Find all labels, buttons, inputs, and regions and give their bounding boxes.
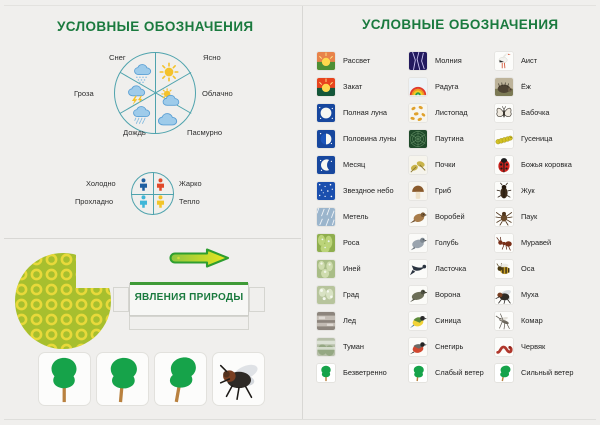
- fly-photo-card[interactable]: [212, 352, 265, 406]
- box-flap-bottom: [129, 316, 249, 330]
- sunset-icon: [316, 77, 336, 97]
- legend-row[interactable]: Червяк: [494, 334, 586, 360]
- buds-icon: [408, 155, 428, 175]
- legend-row[interactable]: Рассвет: [316, 48, 408, 74]
- legend-row-label: Жук: [521, 187, 535, 194]
- legend-row-label: Метель: [343, 213, 368, 220]
- legend-row-label: Месяц: [343, 161, 365, 168]
- page-title-right: УСЛОВНЫЕ ОБОЗНАЧЕНИЯ: [362, 17, 559, 32]
- legend-row[interactable]: Звездное небо: [316, 178, 408, 204]
- legend-row-label: Молния: [435, 57, 462, 64]
- legend-row[interactable]: Ёж: [494, 74, 586, 100]
- legend-row[interactable]: Радуга: [408, 74, 500, 100]
- person-icon: [139, 195, 148, 208]
- sparrow-icon: [408, 207, 428, 227]
- legend-row-label: Гусеница: [521, 135, 552, 142]
- snow-cloud-icon: [130, 63, 156, 83]
- legend-row[interactable]: Ласточка: [408, 256, 500, 282]
- legend-row[interactable]: Оса: [494, 256, 586, 282]
- ant-icon: [494, 233, 514, 253]
- stork-icon: [494, 51, 514, 71]
- legend-row[interactable]: Комар: [494, 308, 586, 334]
- legend-row[interactable]: Безветренно: [316, 360, 408, 386]
- legend-row[interactable]: Муха: [494, 282, 586, 308]
- legend-row-label: Голубь: [435, 239, 459, 246]
- legend-row[interactable]: Ворона: [408, 282, 500, 308]
- legend-row[interactable]: Снегирь: [408, 334, 500, 360]
- legend-row-label: Снегирь: [435, 343, 463, 350]
- legend-row-label: Почки: [435, 161, 455, 168]
- box-flap-right: [249, 287, 265, 312]
- legend-row[interactable]: Почки: [408, 152, 500, 178]
- temperature-grid: Холодно Жарко Прохладно Тепло: [131, 172, 174, 215]
- sunrise-icon: [316, 51, 336, 71]
- legend-row-label: Туман: [343, 343, 364, 350]
- tree-strong-wind-card[interactable]: [154, 352, 207, 406]
- wheel-label-pasmurno: Пасмурно: [187, 128, 222, 137]
- ladybug-icon: [494, 155, 514, 175]
- titmouse-icon: [408, 311, 428, 331]
- legend-row[interactable]: Закат: [316, 74, 408, 100]
- legend-row-label: Слабый ветер: [435, 369, 484, 376]
- pigeon-icon: [408, 233, 428, 253]
- legend-row[interactable]: Лед: [316, 308, 408, 334]
- sun-behind-cloud-icon: [159, 88, 185, 108]
- legend-row[interactable]: Гусеница: [494, 126, 586, 152]
- legend-row[interactable]: Сильный ветер: [494, 360, 586, 386]
- legend-row-label: Радуга: [435, 83, 458, 90]
- beetle-icon: [494, 181, 514, 201]
- legend-row-label: Рассвет: [343, 57, 370, 64]
- caterpillar-icon: [494, 129, 514, 149]
- legend-row[interactable]: Молния: [408, 48, 500, 74]
- wasp-icon: [494, 259, 514, 279]
- animals-and-insects-column: АистЁжБабочкаГусеницаБожья коровкаЖукПау…: [494, 48, 586, 386]
- legend-row-label: Град: [343, 291, 359, 298]
- temp-label-zharko: Жарко: [179, 179, 202, 188]
- box-title: ЯВЛЕНИЯ ПРИРОДЫ: [129, 292, 249, 303]
- legend-row[interactable]: Паутина: [408, 126, 500, 152]
- legend-row-label: Паутина: [435, 135, 464, 142]
- half-moon-icon: [316, 129, 336, 149]
- legend-row-label: Звездное небо: [343, 187, 394, 194]
- temp-label-teplo: Тепло: [179, 197, 200, 206]
- wheel-label-dozhd: Дождь: [123, 128, 146, 137]
- box-flap-left: [113, 287, 129, 312]
- ice-icon: [316, 311, 336, 331]
- cloud-icon: [155, 108, 181, 128]
- legend-row-label: Закат: [343, 83, 362, 90]
- legend-row[interactable]: Метель: [316, 204, 408, 230]
- tree-wind-card-row: [38, 352, 265, 406]
- legend-row[interactable]: Аист: [494, 48, 586, 74]
- legend-row[interactable]: Бабочка: [494, 100, 586, 126]
- temperature-grid-hline: [131, 194, 174, 195]
- legend-row-label: Муравей: [521, 239, 551, 246]
- legend-row[interactable]: Воробей: [408, 204, 500, 230]
- legend-row-label: Листопад: [435, 109, 468, 116]
- tree-upright-icon: [316, 363, 336, 383]
- legend-row[interactable]: Туман: [316, 334, 408, 360]
- legend-row-label: Половина луны: [343, 135, 396, 142]
- starry-sky-icon: [316, 181, 336, 201]
- legend-row[interactable]: Листопад: [408, 100, 500, 126]
- legend-row-label: Муха: [521, 291, 539, 298]
- legend-row-label: Ласточка: [435, 265, 466, 272]
- tree-no-wind-card[interactable]: [38, 352, 91, 406]
- legend-row-label: Иней: [343, 265, 361, 272]
- fog-icon: [316, 337, 336, 357]
- legend-row[interactable]: Половина луны: [316, 126, 408, 152]
- panel-horizontal-divider: [4, 238, 301, 239]
- wheel-label-groza: Гроза: [74, 89, 94, 98]
- panel-vertical-divider: [302, 6, 303, 419]
- temp-label-holodno: Холодно: [86, 179, 116, 188]
- worm-icon: [494, 337, 514, 357]
- frame-bottom-edge: [4, 419, 596, 420]
- legend-row-label: Паук: [521, 213, 537, 220]
- legend-row-label: Божья коровка: [521, 161, 572, 168]
- full-moon-icon: [316, 103, 336, 123]
- legend-row-label: Гриб: [435, 187, 451, 194]
- crow-icon: [408, 285, 428, 305]
- person-icon: [156, 178, 165, 191]
- sun-icon: [156, 62, 182, 82]
- fly-icon: [213, 353, 264, 405]
- frost-icon: [316, 259, 336, 279]
- frame-top-edge: [4, 5, 596, 6]
- crescent-moon-icon: [316, 155, 336, 175]
- legend-row-label: Лед: [343, 317, 356, 324]
- arrow-right-icon[interactable]: [166, 248, 230, 268]
- swallow-icon: [408, 259, 428, 279]
- legend-row-label: Роса: [343, 239, 360, 246]
- nature-phenomena-column: МолнияРадугаЛистопадПаутинаПочкиГрибВоро…: [408, 48, 500, 386]
- legend-row-label: Червяк: [521, 343, 545, 350]
- spider-icon: [494, 207, 514, 227]
- hail-icon: [316, 285, 336, 305]
- tree-bent-icon: [494, 363, 514, 383]
- person-icon: [139, 178, 148, 191]
- lightning-icon: [408, 51, 428, 71]
- person-icon: [156, 195, 165, 208]
- spiderweb-icon: [408, 129, 428, 149]
- legend-row[interactable]: Паук: [494, 204, 586, 230]
- rain-cloud-icon: [129, 105, 155, 125]
- legend-row[interactable]: Муравей: [494, 230, 586, 256]
- legend-row-label: Аист: [521, 57, 537, 64]
- page-title-left: УСЛОВНЫЕ ОБОЗНАЧЕНИЯ: [57, 19, 254, 34]
- dew-icon: [316, 233, 336, 253]
- butterfly-icon: [494, 103, 514, 123]
- box-top-bar: [130, 282, 248, 285]
- legend-row-label: Сильный ветер: [521, 369, 573, 376]
- legend-row-label: Комар: [521, 317, 543, 324]
- mushroom-icon: [408, 181, 428, 201]
- wheel-label-yasno: Ясно: [203, 53, 221, 62]
- rainbow-icon: [408, 77, 428, 97]
- legend-row[interactable]: Месяц: [316, 152, 408, 178]
- legend-row[interactable]: Голубь: [408, 230, 500, 256]
- legend-row[interactable]: Божья коровка: [494, 152, 586, 178]
- wheel-label-sneg: Снег: [109, 53, 126, 62]
- tree-leaning-icon: [408, 363, 428, 383]
- legend-row-label: Ворона: [435, 291, 460, 298]
- legend-row-label: Синица: [435, 317, 461, 324]
- legend-row[interactable]: Слабый ветер: [408, 360, 500, 386]
- legend-row[interactable]: Гриб: [408, 178, 500, 204]
- legend-row-label: Полная луна: [343, 109, 387, 116]
- mosquito-icon: [494, 311, 514, 331]
- legend-row[interactable]: Роса: [316, 230, 408, 256]
- legend-row-label: Ёж: [521, 83, 531, 90]
- bullfinch-icon: [408, 337, 428, 357]
- legend-row[interactable]: Град: [316, 282, 408, 308]
- weather-wheel: Ясно Облачно Пасмурно Дождь Гроза Снег: [114, 52, 196, 134]
- temp-label-prohladno: Прохладно: [75, 197, 113, 206]
- blizzard-icon: [316, 207, 336, 227]
- wheel-label-oblachno: Облачно: [202, 89, 233, 98]
- legend-row[interactable]: Иней: [316, 256, 408, 282]
- hedgehog-icon: [494, 77, 514, 97]
- legend-row[interactable]: Жук: [494, 178, 586, 204]
- legend-row-label: Бабочка: [521, 109, 550, 116]
- box-die-cut-template: ЯВЛЕНИЯ ПРИРОДЫ: [112, 278, 267, 332]
- thunderstorm-icon: [124, 85, 150, 105]
- notched-dotted-circle: [14, 252, 112, 350]
- legend-row-label: Воробей: [435, 213, 465, 220]
- legend-row[interactable]: Полная луна: [316, 100, 408, 126]
- tree-light-wind-card[interactable]: [96, 352, 149, 406]
- fly-icon: [494, 285, 514, 305]
- legend-row-label: Безветренно: [343, 369, 387, 376]
- legend-row-label: Оса: [521, 265, 535, 272]
- falling-leaves-icon: [408, 103, 428, 123]
- legend-row[interactable]: Синица: [408, 308, 500, 334]
- sky-and-precipitation-column: РассветЗакатПолная лунаПоловина луныМеся…: [316, 48, 408, 386]
